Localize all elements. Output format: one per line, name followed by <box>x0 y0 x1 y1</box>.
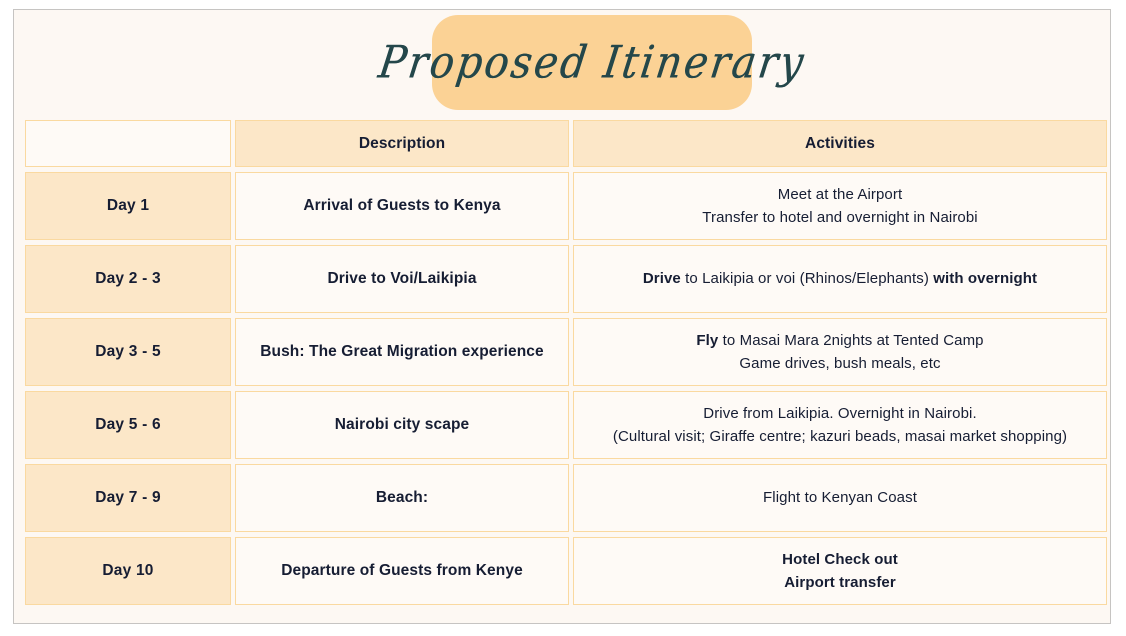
table-row: Day 5 - 6Nairobi city scapeDrive from La… <box>25 391 1107 459</box>
text-run: Transfer to hotel and overnight in Nairo… <box>702 209 977 226</box>
activity-line: Fly to Masai Mara 2nights at Tented Camp <box>582 329 1098 352</box>
day-cell: Day 7 - 9 <box>25 464 231 532</box>
activities-cell: Flight to Kenyan Coast <box>573 464 1107 532</box>
activities-cell: Drive from Laikipia. Overnight in Nairob… <box>573 391 1107 459</box>
activity-line: Drive to Laikipia or voi (Rhinos/Elephan… <box>582 267 1098 290</box>
activity-line: Hotel Check out <box>582 548 1098 571</box>
description-cell: Arrival of Guests to Kenya <box>235 172 569 240</box>
page-title: Proposed Itinerary <box>375 37 808 89</box>
bold-run: Drive <box>643 270 681 287</box>
activity-line: Meet at the Airport <box>582 183 1098 206</box>
description-cell: Beach: <box>235 464 569 532</box>
title-banner: Proposed Itinerary <box>432 15 752 110</box>
activities-cell: Drive to Laikipia or voi (Rhinos/Elephan… <box>573 245 1107 313</box>
activity-line: Flight to Kenyan Coast <box>582 486 1098 509</box>
table-row: Day 10Departure of Guests from KenyeHote… <box>25 537 1107 605</box>
description-cell: Drive to Voi/Laikipia <box>235 245 569 313</box>
header-cell-activities: Activities <box>573 120 1107 167</box>
text-run: The Great Migration experience <box>305 343 544 360</box>
day-cell: Day 3 - 5 <box>25 318 231 386</box>
bold-run: Airport transfer <box>784 574 896 591</box>
table-row: Day 3 - 5Bush: The Great Migration exper… <box>25 318 1107 386</box>
table-header-row: Description Activities <box>25 120 1107 167</box>
day-cell: Day 5 - 6 <box>25 391 231 459</box>
day-cell: Day 10 <box>25 537 231 605</box>
header-cell-day <box>25 120 231 167</box>
bold-run: Fly <box>696 332 718 349</box>
activity-line: (Cultural visit; Giraffe centre; kazuri … <box>582 425 1098 448</box>
text-run: Meet at the Airport <box>778 186 902 203</box>
header-cell-description: Description <box>235 120 569 167</box>
table-row: Day 7 - 9Beach:Flight to Kenyan Coast <box>25 464 1107 532</box>
table-row: Day 2 - 3Drive to Voi/LaikipiaDrive to L… <box>25 245 1107 313</box>
day-cell: Day 2 - 3 <box>25 245 231 313</box>
text-run: to Masai Mara 2nights at Tented Camp <box>718 332 983 349</box>
description-cell: Nairobi city scape <box>235 391 569 459</box>
itinerary-page: Proposed Itinerary Description Activitie… <box>13 9 1111 624</box>
text-run: Flight to Kenyan Coast <box>763 489 917 506</box>
bold-run: with overnight <box>933 270 1037 287</box>
bold-run: Bush: <box>260 343 304 360</box>
activities-cell: Hotel Check outAirport transfer <box>573 537 1107 605</box>
itinerary-table: Description Activities Day 1Arrival of G… <box>21 115 1111 610</box>
activity-line: Airport transfer <box>582 571 1098 594</box>
activity-line: Game drives, bush meals, etc <box>582 352 1098 375</box>
text-run: Drive from Laikipia. Overnight in Nairob… <box>703 405 976 422</box>
day-cell: Day 1 <box>25 172 231 240</box>
text-run: Game drives, bush meals, etc <box>739 355 940 372</box>
activities-cell: Meet at the AirportTransfer to hotel and… <box>573 172 1107 240</box>
description-cell: Departure of Guests from Kenye <box>235 537 569 605</box>
table-body: Description Activities Day 1Arrival of G… <box>25 120 1107 605</box>
activity-line: Drive from Laikipia. Overnight in Nairob… <box>582 402 1098 425</box>
activities-cell: Fly to Masai Mara 2nights at Tented Camp… <box>573 318 1107 386</box>
text-run: (Cultural visit; Giraffe centre; kazuri … <box>613 428 1067 445</box>
activity-line: Transfer to hotel and overnight in Nairo… <box>582 206 1098 229</box>
bold-run: Hotel Check out <box>782 551 898 568</box>
description-cell: Bush: The Great Migration experience <box>235 318 569 386</box>
table-row: Day 1Arrival of Guests to KenyaMeet at t… <box>25 172 1107 240</box>
text-run: to Laikipia or voi (Rhinos/Elephants) <box>681 270 933 287</box>
